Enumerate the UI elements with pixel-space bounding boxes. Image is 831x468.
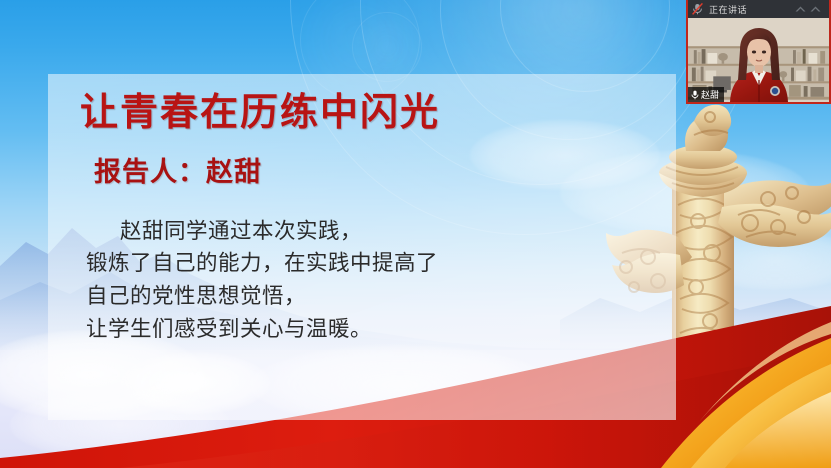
- video-conference-window[interactable]: 正在讲话: [686, 0, 831, 104]
- chevron-up-icon[interactable]: [794, 4, 807, 14]
- participant-name-tag: 赵甜: [688, 87, 724, 102]
- body-line: 让学生们感受到关心与温暖。: [86, 313, 652, 346]
- presenter-line: 报告人：赵甜: [94, 150, 652, 189]
- video-feed[interactable]: 赵甜: [688, 18, 829, 102]
- slide-body-text: 赵甜同学通过本次实践， 锻炼了自己的能力，在实践中提高了 自己的党性思想觉悟， …: [86, 215, 652, 346]
- page-title: 让青春在历练中闪光: [80, 88, 652, 136]
- mic-muted-icon[interactable]: [692, 3, 703, 15]
- participant-video-avatar: [728, 28, 790, 102]
- chevron-up-icon[interactable]: [809, 4, 822, 14]
- body-line: 自己的党性思想觉悟，: [86, 280, 652, 313]
- slide-content-panel: 让青春在历练中闪光 报告人：赵甜 赵甜同学通过本次实践， 锻炼了自己的能力，在实…: [48, 74, 676, 420]
- cloud: [690, 230, 831, 290]
- decorative-ring: [352, 12, 422, 82]
- video-window-controls[interactable]: [794, 4, 825, 14]
- body-line: 锻炼了自己的能力，在实践中提高了: [86, 247, 652, 280]
- speaking-status-label: 正在讲话: [709, 3, 747, 16]
- body-line: 赵甜同学通过本次实践，: [86, 215, 652, 248]
- participant-name-label: 赵甜: [701, 88, 719, 101]
- mic-icon: [691, 90, 699, 100]
- presentation-stage: 让青春在历练中闪光 报告人：赵甜 赵甜同学通过本次实践， 锻炼了自己的能力，在实…: [0, 0, 831, 468]
- video-window-titlebar[interactable]: 正在讲话: [688, 0, 829, 18]
